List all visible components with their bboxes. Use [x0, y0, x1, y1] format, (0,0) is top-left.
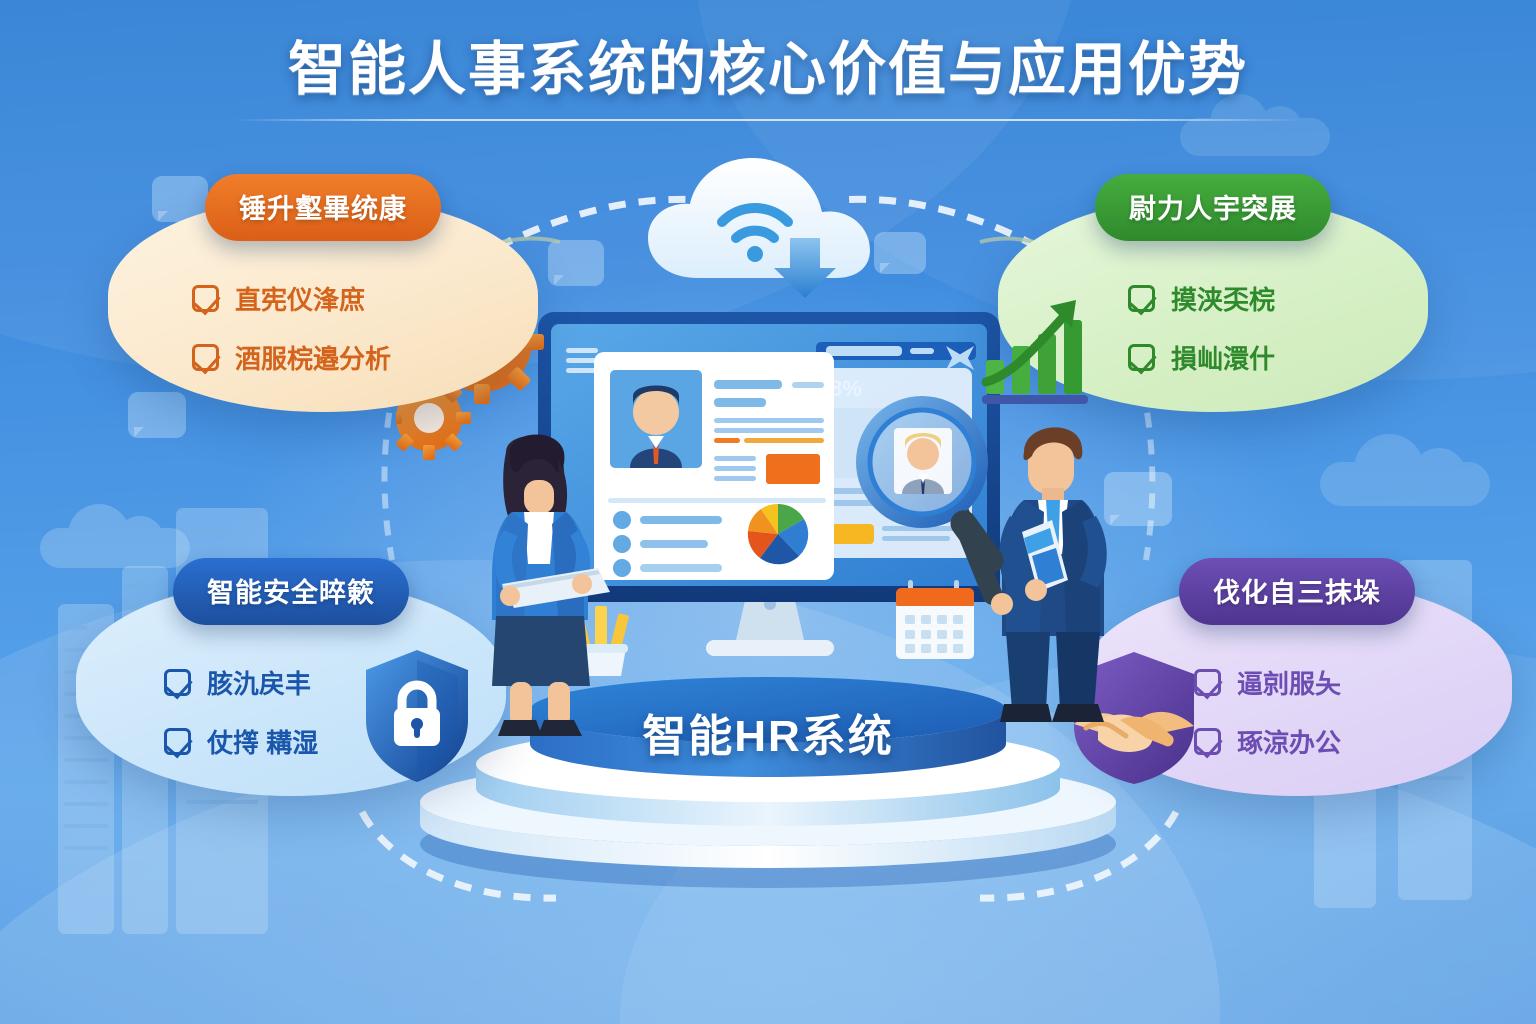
check-icon — [164, 669, 191, 696]
infographic-canvas: 智能人事系统的核心价值与应用优势 — [0, 0, 1536, 1024]
check-icon — [192, 344, 219, 371]
bullet-item: 酒服梡邉分析 — [192, 339, 391, 376]
bullet-label: 胲氿戻丰 — [207, 664, 311, 701]
card-security-bullets: 胲氿戻丰 仗㩐 耩湿 — [164, 664, 318, 760]
background-chat-card — [548, 240, 604, 286]
title-divider — [233, 119, 1303, 121]
card-efficiency[interactable]: 锤升壑畢统康 直宪仪浲庶 酒服梡邉分析 — [108, 196, 538, 412]
bullet-label: 琢涼办公 — [1237, 723, 1341, 760]
bullet-item: 摸浃奀梡 — [1128, 280, 1275, 317]
card-security-heading: 智能安全晬簌 — [173, 558, 409, 625]
card-efficiency-bullets: 直宪仪浲庶 酒服梡邉分析 — [192, 280, 391, 376]
bullet-label: 直宪仪浲庶 — [235, 280, 365, 317]
bullet-label: 仗㩐 耩湿 — [207, 723, 318, 760]
page-title-container: 智能人事系统的核心价值与应用优势 — [0, 38, 1536, 121]
bullet-item: 逼剠服夨 — [1194, 664, 1341, 701]
bullet-item: 琢涼办公 — [1194, 723, 1341, 760]
magnifier-icon — [846, 388, 1016, 578]
bullet-item: 胲氿戻丰 — [164, 664, 318, 701]
page-title: 智能人事系统的核心价值与应用优势 — [288, 38, 1248, 103]
check-icon — [164, 728, 191, 755]
background-cloud-icon — [1320, 430, 1490, 510]
menu-icon — [566, 348, 598, 373]
card-growth-bullets: 摸浃奀梡 損屾澴什 — [1128, 280, 1275, 376]
card-experience-heading: 伐化自三抹垛 — [1179, 558, 1415, 625]
bullet-label: 酒服梡邉分析 — [235, 339, 391, 376]
card-growth-heading: 尉力人宇突展 — [1095, 174, 1331, 241]
bullet-item: 損屾澴什 — [1128, 339, 1275, 376]
bullet-item: 直宪仪浲庶 — [192, 280, 391, 317]
card-efficiency-heading: 锤升壑畢统康 — [205, 174, 441, 241]
check-icon — [1128, 285, 1155, 312]
bullet-label: 損屾澴什 — [1171, 339, 1275, 376]
card-experience-bullets: 逼剠服夨 琢涼办公 — [1194, 664, 1341, 760]
bullet-item: 仗㩐 耩湿 — [164, 723, 318, 760]
check-icon — [192, 285, 219, 312]
business-woman-figure — [448, 424, 638, 744]
bullet-label: 逼剠服夨 — [1237, 664, 1341, 701]
pie-chart — [748, 504, 808, 564]
bullet-label: 摸浃奀梡 — [1171, 280, 1275, 317]
background-cloud-icon — [40, 500, 190, 570]
cloud-wifi-download-icon — [630, 150, 920, 300]
check-icon — [1128, 344, 1155, 371]
